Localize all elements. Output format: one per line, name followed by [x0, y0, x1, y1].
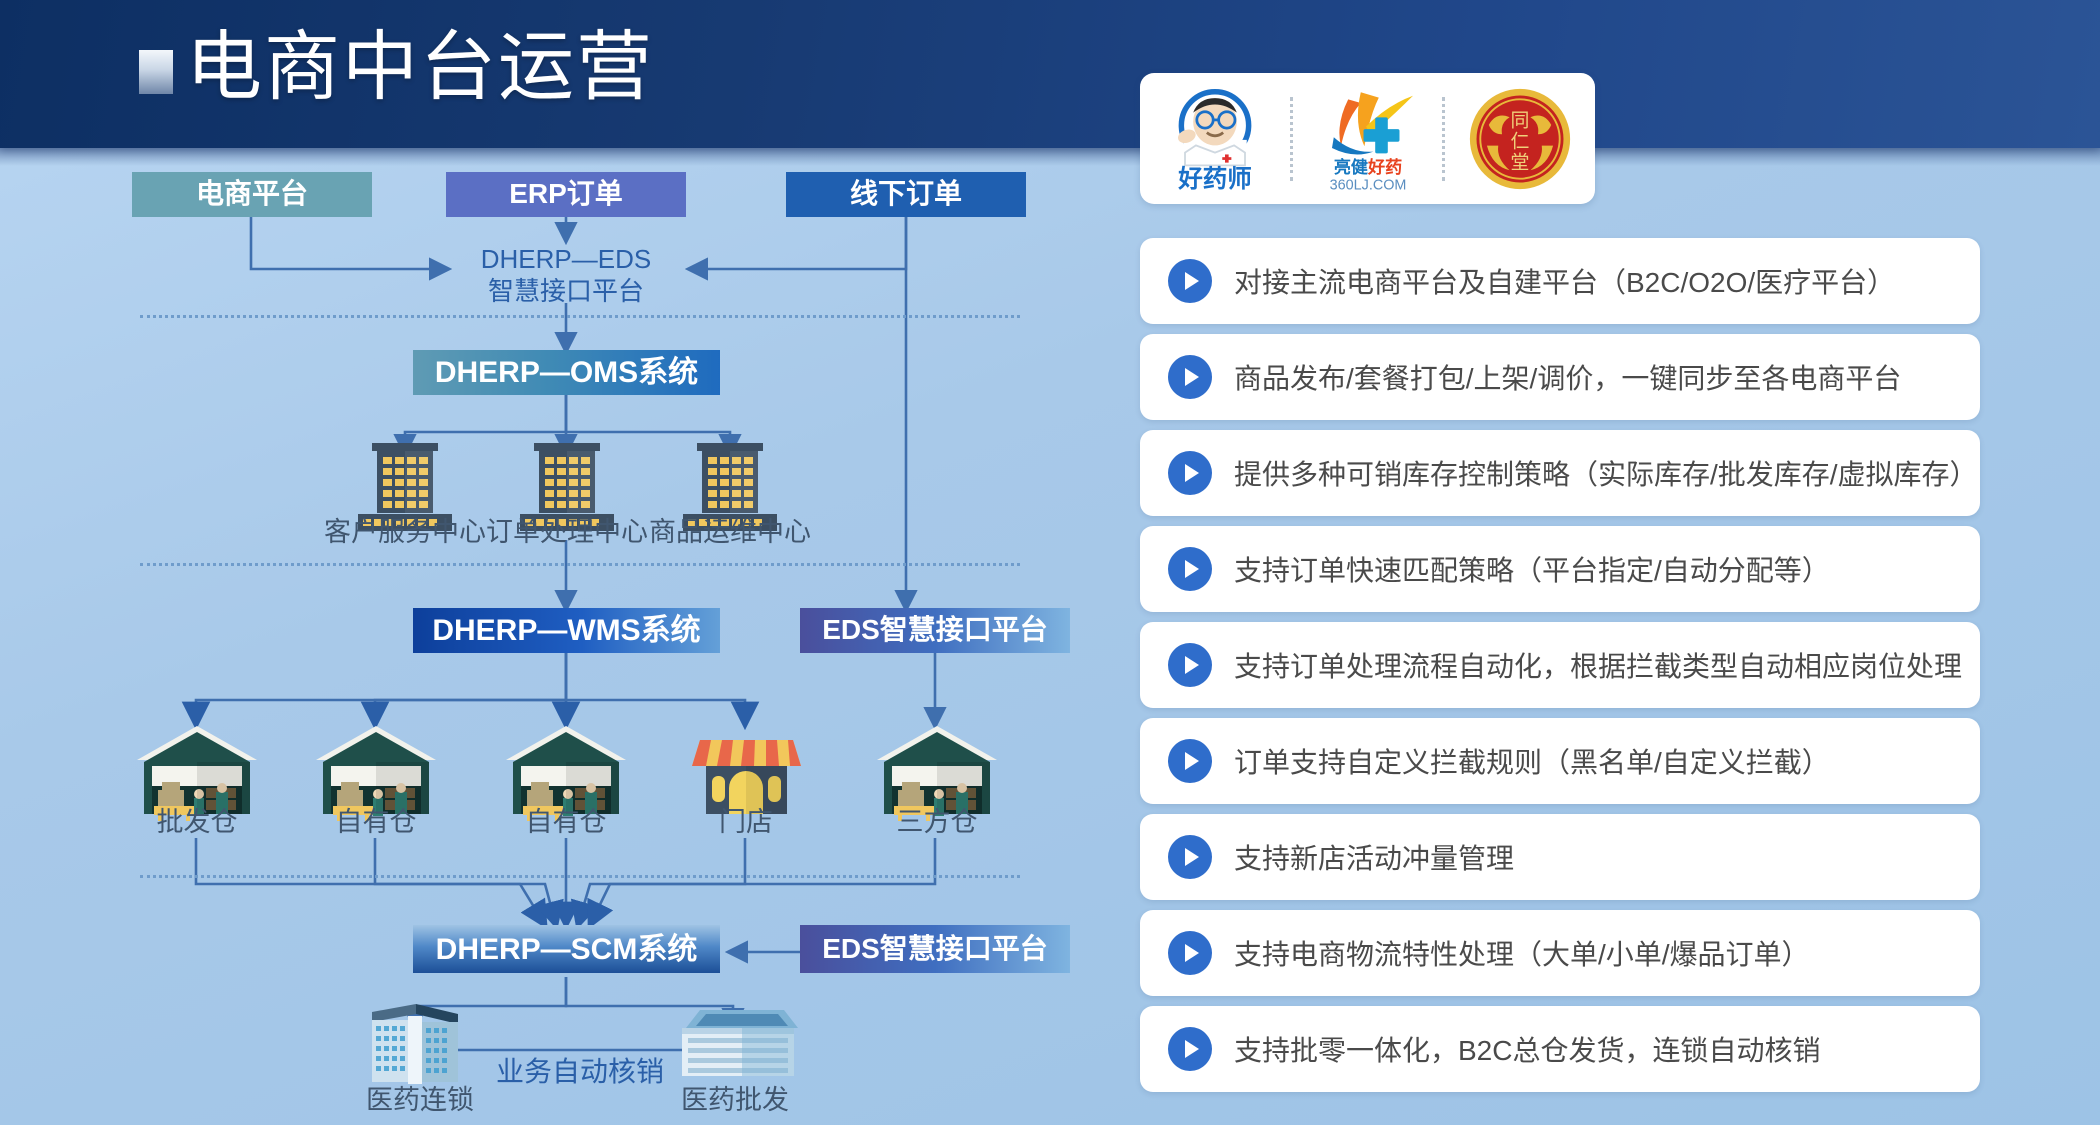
logo-name: 好药师 — [1177, 165, 1252, 193]
feature-card-7[interactable]: 支持电商物流特性处理（大单/小单/爆品订单） — [1140, 910, 1980, 996]
node-ecommerce-platform[interactable]: 电商平台 — [132, 172, 372, 217]
partner-link-label: 业务自动核销 — [470, 1055, 690, 1089]
feature-text: 支持订单快速匹配策略（平台指定/自动分配等） — [1234, 549, 1830, 589]
feature-text: 支持新店活动冲量管理 — [1234, 837, 1514, 877]
node-eds-bottom[interactable]: EDS智慧接口平台 — [800, 925, 1070, 973]
node-erp-order[interactable]: ERP订单 — [446, 172, 686, 217]
center-2-label: 商品运维中心 — [645, 510, 815, 549]
node-offline-order[interactable]: 线下订单 — [786, 172, 1026, 217]
partner-0[interactable] — [358, 1000, 473, 1085]
tower-building-icon — [358, 1000, 473, 1085]
node-label: DHERP—WMS系统 — [432, 614, 700, 647]
page-title: 电商中台运营 — [186, 3, 654, 133]
feature-card-5[interactable]: 订单支持自定义拦截规则（黑名单/自定义拦截） — [1140, 718, 1980, 804]
logo-bar: 好药师 亮健好药 360LJ.COM — [1140, 73, 1595, 204]
node-label: EDS智慧接口平台 — [822, 615, 1048, 646]
partner-1[interactable] — [672, 1004, 802, 1084]
feature-text: 支持电商物流特性处理（大单/小单/爆品订单） — [1234, 933, 1810, 973]
node-label: DHERP—SCM系统 — [436, 933, 698, 966]
logo-sub: 360LJ.COM — [1329, 177, 1406, 193]
logo-haoyaoshi[interactable]: 好药师 — [1140, 73, 1290, 204]
logo-liangjian[interactable]: 亮健好药 360LJ.COM — [1293, 73, 1443, 204]
play-icon — [1168, 931, 1212, 975]
slide-header: 电商中台运营 — [0, 0, 2100, 148]
node-label: EDS智慧接口平台 — [822, 934, 1048, 965]
play-icon — [1168, 259, 1212, 303]
doctor-avatar-logo: 好药师 — [1165, 84, 1265, 194]
feature-text: 商品发布/套餐打包/上架/调价，一键同步至各电商平台 — [1234, 357, 1901, 397]
node-dherp-scm[interactable]: DHERP—SCM系统 — [413, 925, 720, 973]
warehouse-3-label: 门店 — [676, 800, 816, 839]
play-icon — [1168, 643, 1212, 687]
red-seal-logo: 同 仁 堂 — [1468, 87, 1572, 191]
logo-tongrentang[interactable]: 同 仁 堂 — [1445, 73, 1595, 204]
warehouse-0-label: 批发仓 — [127, 800, 267, 839]
play-icon — [1168, 547, 1212, 591]
feature-card-0[interactable]: 对接主流电商平台及自建平台（B2C/O2O/医疗平台） — [1140, 238, 1980, 324]
feature-text: 对接主流电商平台及自建平台（B2C/O2O/医疗平台） — [1234, 261, 1895, 301]
divider-row-1 — [140, 315, 1020, 318]
svg-text:亮健好药: 亮健好药 — [1333, 157, 1401, 177]
slide-root: 电商中台运营 — [0, 0, 2100, 1125]
play-icon — [1168, 835, 1212, 879]
warehouse-2-label: 自有仓 — [496, 800, 636, 839]
node-eds-mid[interactable]: EDS智慧接口平台 — [800, 608, 1070, 653]
node-label: ERP订单 — [509, 179, 623, 210]
play-icon — [1168, 739, 1212, 783]
play-icon — [1168, 1027, 1212, 1071]
play-icon — [1168, 451, 1212, 495]
feature-card-6[interactable]: 支持新店活动冲量管理 — [1140, 814, 1980, 900]
wide-building-icon — [672, 1004, 802, 1084]
node-dherp-oms[interactable]: DHERP—OMS系统 — [413, 350, 720, 395]
feature-card-1[interactable]: 商品发布/套餐打包/上架/调价，一键同步至各电商平台 — [1140, 334, 1980, 420]
node-label: 电商平台 — [196, 179, 308, 210]
feature-card-8[interactable]: 支持批零一体化，B2C总仓发货，连锁自动核销 — [1140, 1006, 1980, 1092]
feature-text: 提供多种可销库存控制策略（实际库存/批发库存/虚拟库存） — [1234, 453, 1978, 493]
feature-text: 支持批零一体化，B2C总仓发货，连锁自动核销 — [1234, 1029, 1820, 1069]
label-dherp-eds-interface: DHERP—EDS 智慧接口平台 — [446, 244, 686, 307]
svg-text:同: 同 — [1511, 110, 1530, 131]
divider-row-3 — [140, 875, 1020, 878]
interface-line-2: 智慧接口平台 — [446, 276, 686, 308]
feature-text: 支持订单处理流程自动化，根据拦截类型自动相应岗位处理 — [1234, 645, 1962, 685]
warehouse-4-label: 三方仓 — [867, 800, 1007, 839]
svg-text:仁: 仁 — [1511, 130, 1530, 152]
feature-text: 订单支持自定义拦截规则（黑名单/自定义拦截） — [1234, 741, 1830, 781]
svg-text:堂: 堂 — [1511, 151, 1530, 173]
square-bullet-icon — [139, 50, 173, 94]
node-label: DHERP—OMS系统 — [435, 356, 698, 389]
divider-row-2 — [140, 563, 1020, 566]
center-1-label: 订单处理中心 — [482, 510, 652, 549]
cross-swoosh-logo: 亮健好药 360LJ.COM — [1314, 84, 1422, 194]
center-0-label: 客户服务中心 — [320, 510, 490, 549]
feature-card-3[interactable]: 支持订单快速匹配策略（平台指定/自动分配等） — [1140, 526, 1980, 612]
feature-card-4[interactable]: 支持订单处理流程自动化，根据拦截类型自动相应岗位处理 — [1140, 622, 1980, 708]
node-label: 线下订单 — [850, 179, 962, 210]
play-icon — [1168, 355, 1212, 399]
feature-card-2[interactable]: 提供多种可销库存控制策略（实际库存/批发库存/虚拟库存） — [1140, 430, 1980, 516]
warehouse-1-label: 自有仓 — [306, 800, 446, 839]
interface-line-1: DHERP—EDS — [446, 244, 686, 276]
node-dherp-wms[interactable]: DHERP—WMS系统 — [413, 608, 720, 653]
